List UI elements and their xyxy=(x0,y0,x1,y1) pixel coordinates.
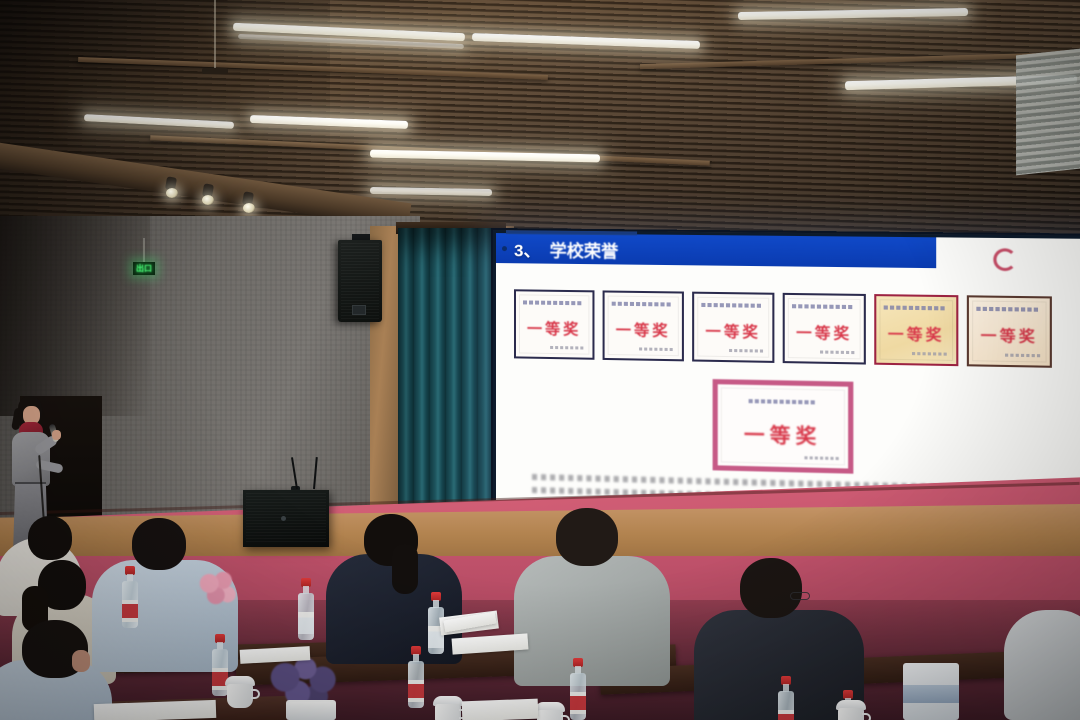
tissue-box-band xyxy=(903,685,959,703)
speaker-grille xyxy=(246,493,326,544)
certificate-prize-label: 一等奖 xyxy=(605,319,682,341)
presenter-hand xyxy=(52,430,61,440)
pink-flower-arrangement xyxy=(196,568,240,612)
teacup xyxy=(224,676,256,708)
teacup-body xyxy=(435,704,461,720)
certificate-thumbnail: 一等奖 xyxy=(514,289,594,360)
certificate-prize-label: 一等奖 xyxy=(718,418,848,450)
wall-mounted-loudspeaker xyxy=(338,240,382,322)
teacup-body xyxy=(537,710,563,720)
certificate-prize-label: 一等奖 xyxy=(694,320,772,343)
certificate-footer-text xyxy=(820,350,855,354)
teacup xyxy=(534,702,566,720)
teacup-body xyxy=(838,708,864,720)
wall-shadow xyxy=(0,216,150,416)
bottle-label xyxy=(778,710,794,720)
certificate-heading-text xyxy=(523,300,582,305)
certificate-thumbnail: 一等奖 xyxy=(692,292,774,363)
speaker-knob xyxy=(281,516,286,521)
certificate-heading-text xyxy=(884,305,946,310)
audience-ponytail xyxy=(392,544,418,594)
certificate-thumbnail: 一等奖 xyxy=(874,294,958,366)
glasses xyxy=(790,592,810,600)
certificate-heading-text xyxy=(792,304,853,309)
certificate-footer-text xyxy=(639,347,674,351)
certificate-prize-label: 一等奖 xyxy=(785,321,864,344)
exit-sign-stem xyxy=(143,238,145,264)
bottle-label xyxy=(298,612,314,634)
slide-header-accent xyxy=(506,230,637,235)
certificate-prize-label: 一等奖 xyxy=(516,317,592,339)
ashtray-dish xyxy=(288,702,336,720)
certificate-heading-text xyxy=(701,303,762,308)
spotlight xyxy=(243,203,255,213)
audience-head xyxy=(28,516,72,560)
certificate-row: 一等奖 一等奖 一等奖 一等奖 xyxy=(514,289,1080,368)
water-bottle xyxy=(122,566,138,628)
teacup-handle xyxy=(561,715,570,720)
teacup xyxy=(432,696,464,720)
spotlight xyxy=(166,188,178,198)
document-paper xyxy=(462,699,539,720)
teacup-handle xyxy=(862,713,871,720)
teacup xyxy=(835,700,867,720)
audience-head xyxy=(740,558,802,618)
slide-header-band: 3、 学校荣誉 xyxy=(496,233,936,268)
document-paper xyxy=(94,700,217,720)
certificate-footer-text xyxy=(729,349,764,353)
water-bottle xyxy=(570,658,586,720)
audience-body xyxy=(514,556,670,686)
floor-monitor-speaker xyxy=(243,490,329,547)
certificate-footer-text xyxy=(912,352,948,356)
certificate-heading-text xyxy=(612,302,672,307)
certificate-footer-text xyxy=(1005,354,1041,358)
certificate-prize-label: 一等奖 xyxy=(969,324,1050,347)
certificate-thumbnail: 一等奖 xyxy=(783,293,866,365)
teacup-body xyxy=(227,684,253,708)
audience-head xyxy=(132,518,186,570)
slide-title: 学校荣誉 xyxy=(550,236,619,262)
window-blinds xyxy=(1016,49,1080,176)
tissue-box xyxy=(903,663,959,720)
bottle-label xyxy=(570,692,586,714)
exit-sign-label: 出口 xyxy=(136,263,152,274)
certificate-thumbnail: 一等奖 xyxy=(967,295,1052,368)
water-bottle xyxy=(778,676,794,720)
certificate-footer-text xyxy=(550,346,584,350)
ceiling-mount-plate xyxy=(202,68,228,74)
water-bottle xyxy=(298,578,314,640)
certificate-thumbnail: 一等奖 xyxy=(603,290,684,361)
bottle-label xyxy=(122,600,138,622)
audience-body xyxy=(1004,610,1080,720)
certificate-heading-text xyxy=(976,307,1039,312)
featured-certificate: 一等奖 xyxy=(713,379,854,474)
conference-hall-scene: 出口 3、 学校荣誉 一等奖 xyxy=(0,0,1080,720)
slide-bullet-dot xyxy=(502,246,507,251)
certificate-prize-label: 一等奖 xyxy=(876,323,956,346)
hanging-wire xyxy=(214,0,216,72)
slide-section-number: 3、 xyxy=(514,236,541,261)
speaker-badge xyxy=(352,305,366,315)
spotlight xyxy=(202,195,214,205)
exit-sign: 出口 xyxy=(133,262,155,275)
water-bottle xyxy=(408,646,424,708)
bottle-label xyxy=(408,680,424,702)
audience-ear xyxy=(72,650,90,672)
school-crest-logo xyxy=(993,248,1016,271)
audience-head xyxy=(556,508,618,566)
